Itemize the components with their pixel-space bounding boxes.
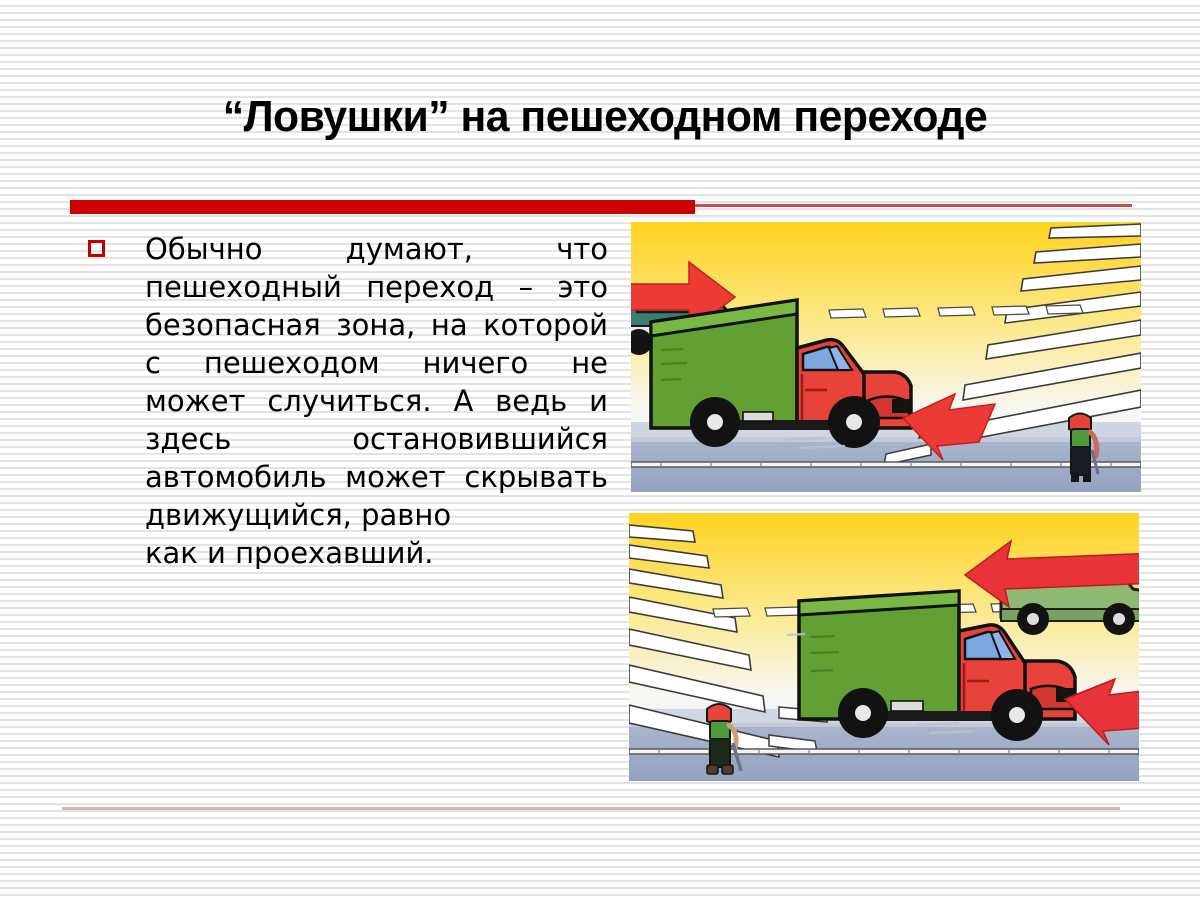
slide-canvas: “Ловушки” на пешеходном переходе Обычно … xyxy=(0,0,1200,900)
illustration-bottom xyxy=(629,513,1139,781)
divider-thick-bar xyxy=(70,200,695,214)
title-divider xyxy=(70,200,1132,214)
page-title: “Ловушки” на пешеходном переходе xyxy=(76,90,1133,144)
body-paragraph-last-line: как и проехавший. xyxy=(145,534,608,572)
illustration-bottom-graphic xyxy=(629,513,1139,781)
illustration-top xyxy=(631,222,1141,492)
road-curb xyxy=(631,462,1141,467)
road-curb xyxy=(629,749,1139,754)
square-bullet-icon xyxy=(88,240,105,257)
illustration-top-graphic xyxy=(631,222,1141,492)
bottom-rule xyxy=(62,807,1120,810)
bullet-list-item: Обычно думают, что пешеходный переход – … xyxy=(88,230,608,572)
body-text-block: Обычно думают, что пешеходный переход – … xyxy=(88,230,608,572)
body-paragraph-main: Обычно думают, что пешеходный переход – … xyxy=(145,232,608,532)
divider-thin-line xyxy=(695,204,1132,207)
body-paragraph: Обычно думают, что пешеходный переход – … xyxy=(88,230,608,572)
